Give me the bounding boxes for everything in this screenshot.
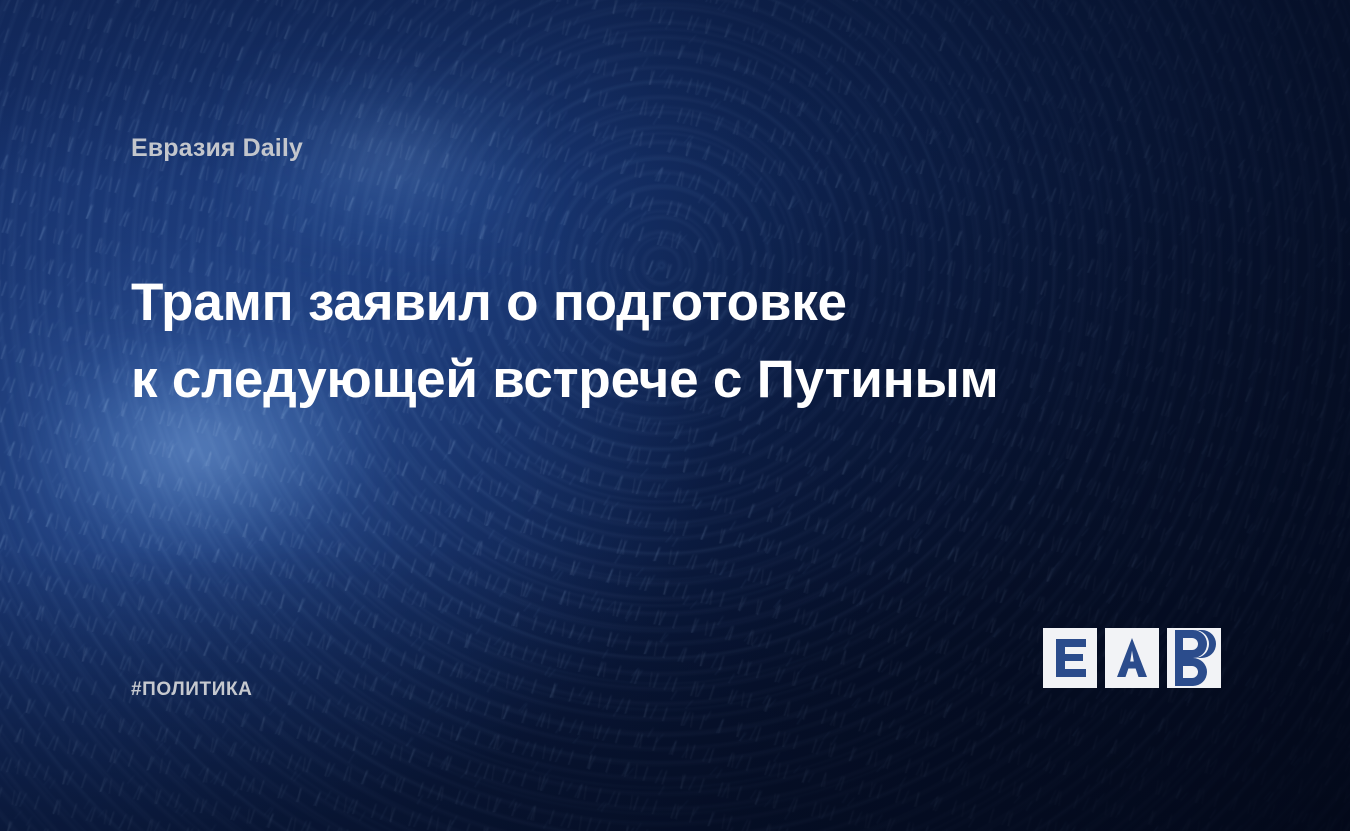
poster-content: Евразия Daily Трамп заявил о подготовке … [0,0,1350,831]
ead-logo-svg [1043,628,1221,688]
ead-logo-icon[interactable] [1043,628,1221,688]
category-hashtag[interactable]: #ПОЛИТИКА [131,680,253,699]
news-poster-card: Евразия Daily Трамп заявил о подготовке … [0,0,1350,831]
brand-name: Евразия Daily [131,136,303,161]
headline-line-1: Трамп заявил о подготовке [131,264,1091,341]
headline-line-2: к следующей встрече с Путиным [131,341,1091,418]
page-title: Трамп заявил о подготовке к следующей вс… [131,264,1091,418]
